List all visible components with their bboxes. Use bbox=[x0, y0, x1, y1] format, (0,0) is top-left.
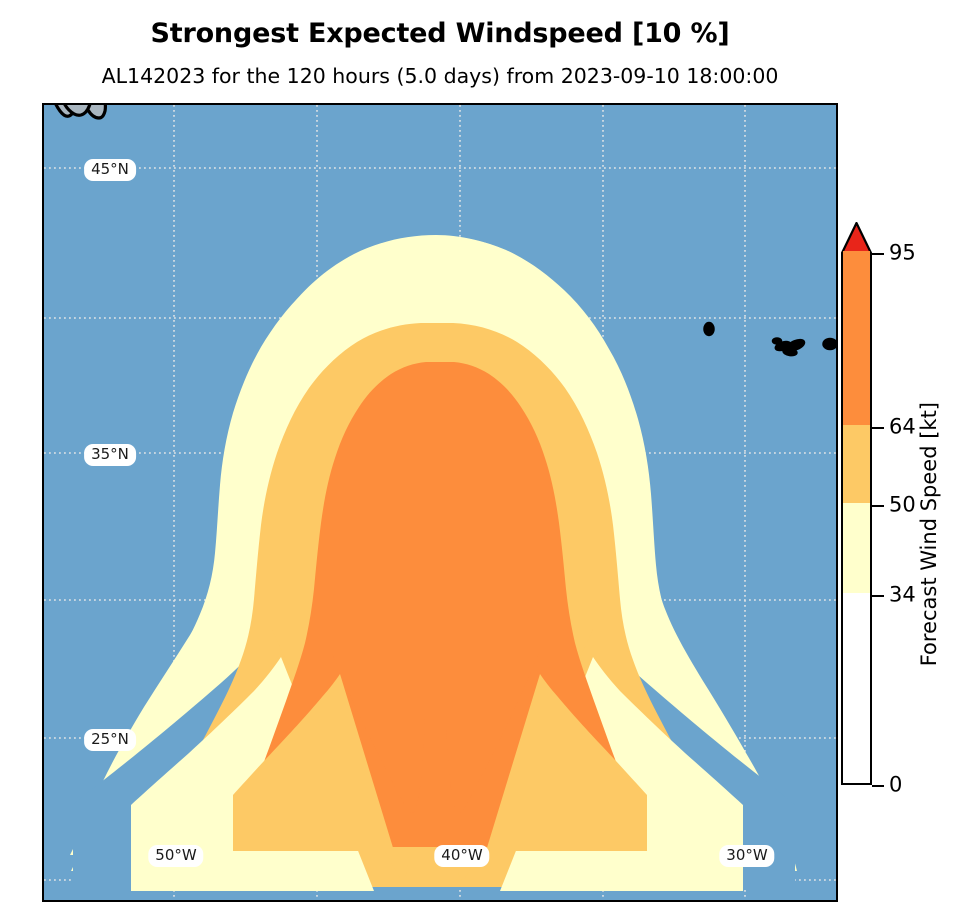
lon-label-40w: 40°W bbox=[434, 845, 489, 867]
page-title: Strongest Expected Windspeed [10 %] bbox=[0, 20, 880, 47]
lon-label-30w: 30°W bbox=[719, 845, 774, 867]
lat-label-25n: 25°N bbox=[84, 729, 136, 751]
colorbar-extend-arrow bbox=[841, 222, 872, 254]
colorbar-segment-0-34 bbox=[843, 593, 870, 783]
colorbar-label-50: 50 bbox=[889, 495, 916, 516]
colorbar-tick-34 bbox=[872, 595, 884, 597]
colorbar-tick-64 bbox=[872, 427, 884, 429]
colorbar-segment-64-95 bbox=[843, 251, 870, 425]
island-graciosa bbox=[773, 338, 782, 344]
colorbar-segment-50-64 bbox=[843, 425, 870, 503]
colorbar-tick-50 bbox=[872, 505, 884, 507]
lat-label-35n: 35°N bbox=[84, 444, 136, 466]
colorbar-label-34: 34 bbox=[889, 585, 916, 606]
colorbar-axis-label: Forecast Wind Speed [kt] bbox=[919, 402, 940, 666]
figure-canvas: Strongest Expected Windspeed [10 %] AL14… bbox=[0, 0, 965, 924]
colorbar-tick-0 bbox=[872, 785, 884, 787]
colorbar-gradient bbox=[841, 253, 872, 785]
land-newfoundland bbox=[52, 105, 105, 118]
map-axes[interactable]: 45°N 35°N 25°N 50°W 40°W 30°W bbox=[42, 103, 838, 902]
map-graphics bbox=[44, 105, 836, 900]
map-clip bbox=[44, 105, 836, 900]
colorbar-label-0: 0 bbox=[889, 775, 902, 796]
island-flores bbox=[704, 323, 714, 336]
page-subtitle: AL142023 for the 120 hours (5.0 days) fr… bbox=[0, 66, 880, 87]
lat-label-45n: 45°N bbox=[84, 159, 136, 181]
colorbar-tick-95 bbox=[872, 253, 884, 255]
land-azores bbox=[704, 323, 836, 357]
colorbar[interactable]: 95 64 50 34 0 Forecast Wind Speed [kt] bbox=[835, 222, 965, 802]
lon-label-50w: 50°W bbox=[148, 845, 203, 867]
colorbar-label-95: 95 bbox=[889, 243, 916, 264]
colorbar-segment-34-50 bbox=[843, 503, 870, 593]
colorbar-label-64: 64 bbox=[889, 417, 916, 438]
